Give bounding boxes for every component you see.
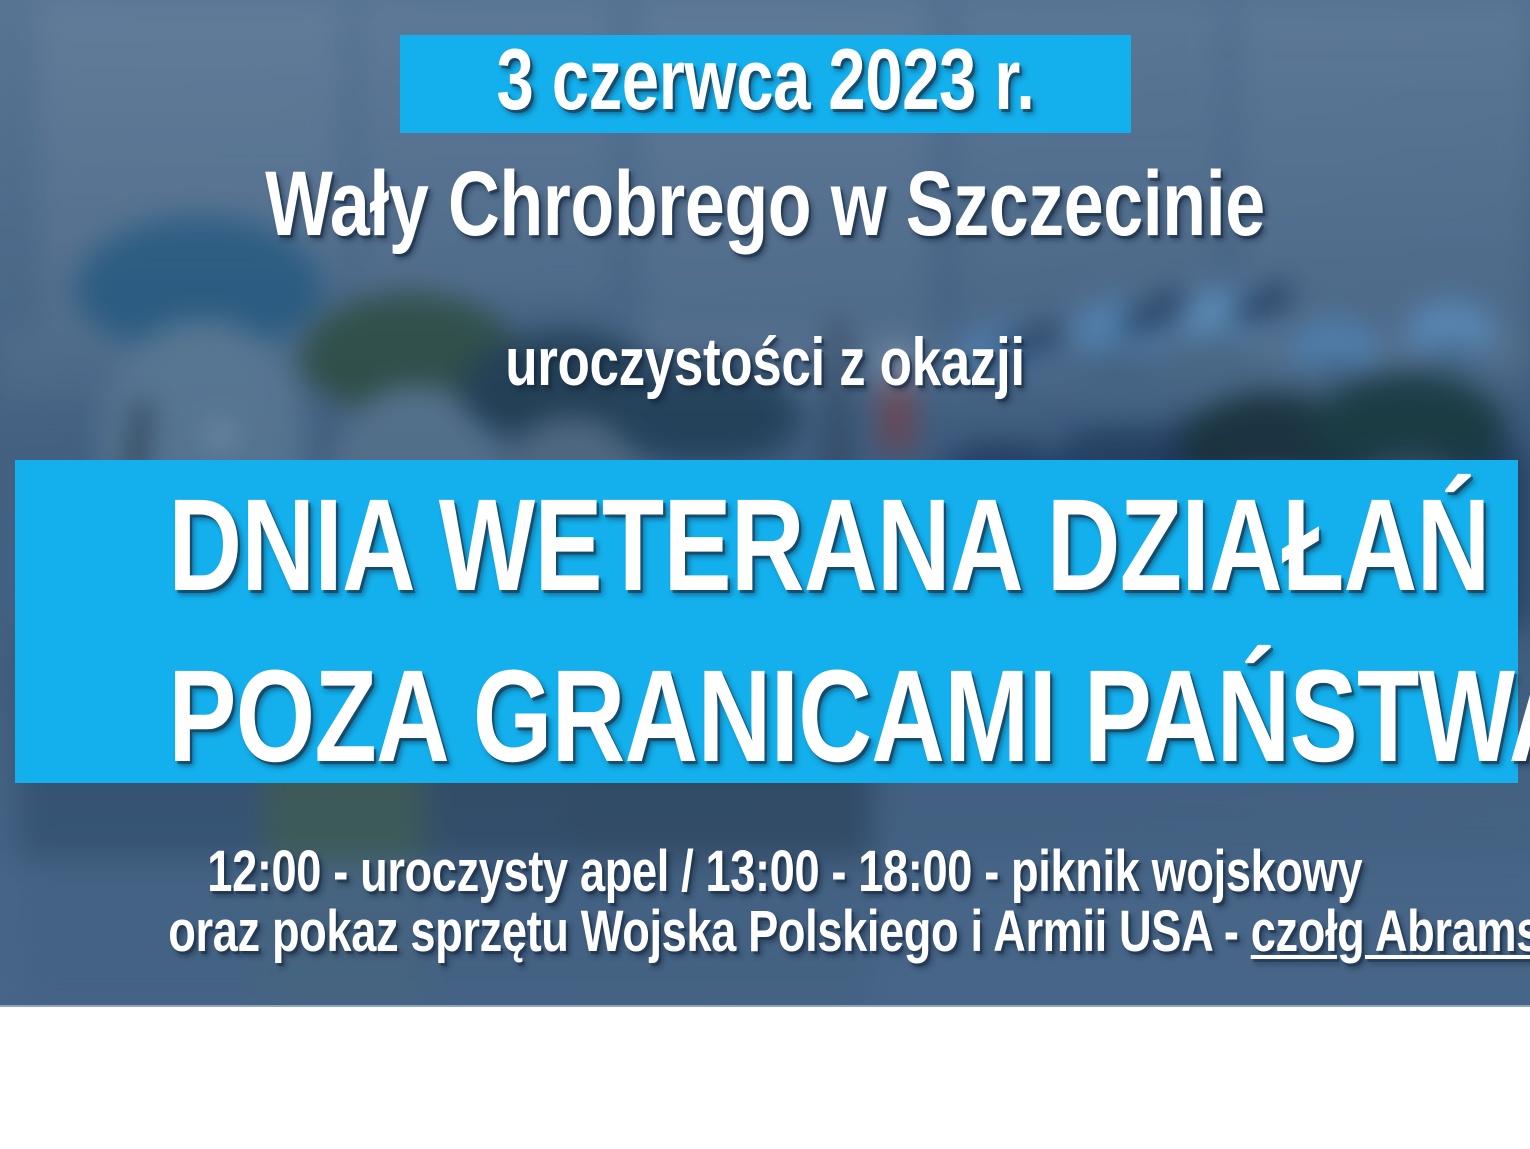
programme-line-1: 12:00 - uroczysty apel / 13:00 - 18:00 -…	[207, 843, 1322, 901]
headline-line-1: DNIA WETERANA DZIAŁAŃ	[168, 479, 1361, 610]
event-location: Wały Chrobrego w Szczecinie	[219, 158, 1311, 250]
headline-line-2: POZA GRANICAMI PAŃSTWA	[168, 650, 1361, 781]
event-occasion-lead: uroczystości z okazji	[375, 328, 1155, 396]
event-date: 3 czerwca 2023 r.	[480, 37, 1050, 123]
event-poster: 3 czerwca 2023 r. Wały Chrobrego w Szcze…	[0, 0, 1530, 1149]
programme-line-2: oraz pokaz sprzętu Wojska Polskiego i Ar…	[168, 903, 1361, 961]
footer-bar: Zapraszają:	[0, 1007, 1530, 1149]
programme-line-2-highlight: czołg Abrams	[1251, 899, 1530, 964]
programme-line-2-plain: oraz pokaz sprzętu Wojska Polskiego i Ar…	[168, 899, 1250, 964]
